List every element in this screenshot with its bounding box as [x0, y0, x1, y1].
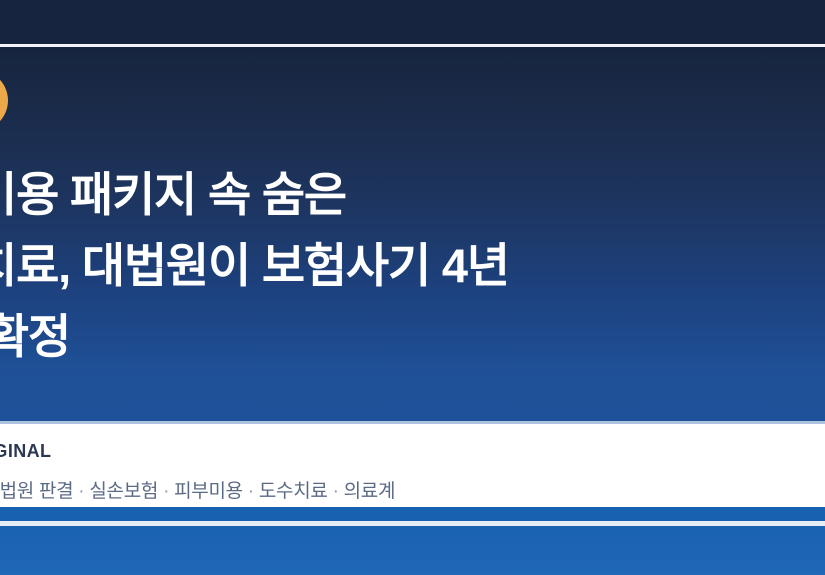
- tag-list: 사기·대법원 판결·실손보험·피부미용·도수치료·의료계: [0, 476, 395, 503]
- footer-accent-bar: [0, 507, 825, 521]
- meta-section: E2 ORIGINAL 사기·대법원 판결·실손보험·피부미용·도수치료·의료계: [0, 424, 825, 507]
- tag-item[interactable]: 대법원 판결: [0, 481, 73, 502]
- brand-kicker: E2 ORIGINAL: [0, 441, 51, 462]
- hero-content: 스 부미용 패키지 속 숨은 수치료, 대법원이 보험사기 4년 형 확정: [0, 47, 825, 421]
- top-header-bar: [0, 0, 825, 44]
- tag-separator: ·: [328, 481, 344, 502]
- footer-bar: [0, 526, 825, 575]
- headline-line-2: 수치료, 대법원이 보험사기 4년: [0, 230, 812, 301]
- tag-separator: ·: [158, 481, 174, 502]
- page-title: 부미용 패키지 속 숨은 수치료, 대법원이 보험사기 4년 형 확정: [0, 159, 812, 372]
- headline-line-1: 부미용 패키지 속 숨은: [0, 159, 812, 230]
- tag-item[interactable]: 실손보험: [89, 481, 158, 502]
- tag-item[interactable]: 의료계: [344, 481, 396, 502]
- hero-section: 스 부미용 패키지 속 숨은 수치료, 대법원이 보험사기 4년 형 확정: [0, 47, 825, 421]
- category-badge[interactable]: 스: [0, 70, 8, 131]
- headline-line-3: 형 확정: [0, 301, 812, 372]
- article-hero-card: 스 부미용 패키지 속 숨은 수치료, 대법원이 보험사기 4년 형 확정 E2…: [0, 0, 825, 575]
- tag-separator: ·: [73, 481, 89, 502]
- tag-item[interactable]: 피부미용: [174, 481, 243, 502]
- tag-separator: ·: [243, 481, 259, 502]
- tag-item[interactable]: 도수치료: [259, 481, 328, 502]
